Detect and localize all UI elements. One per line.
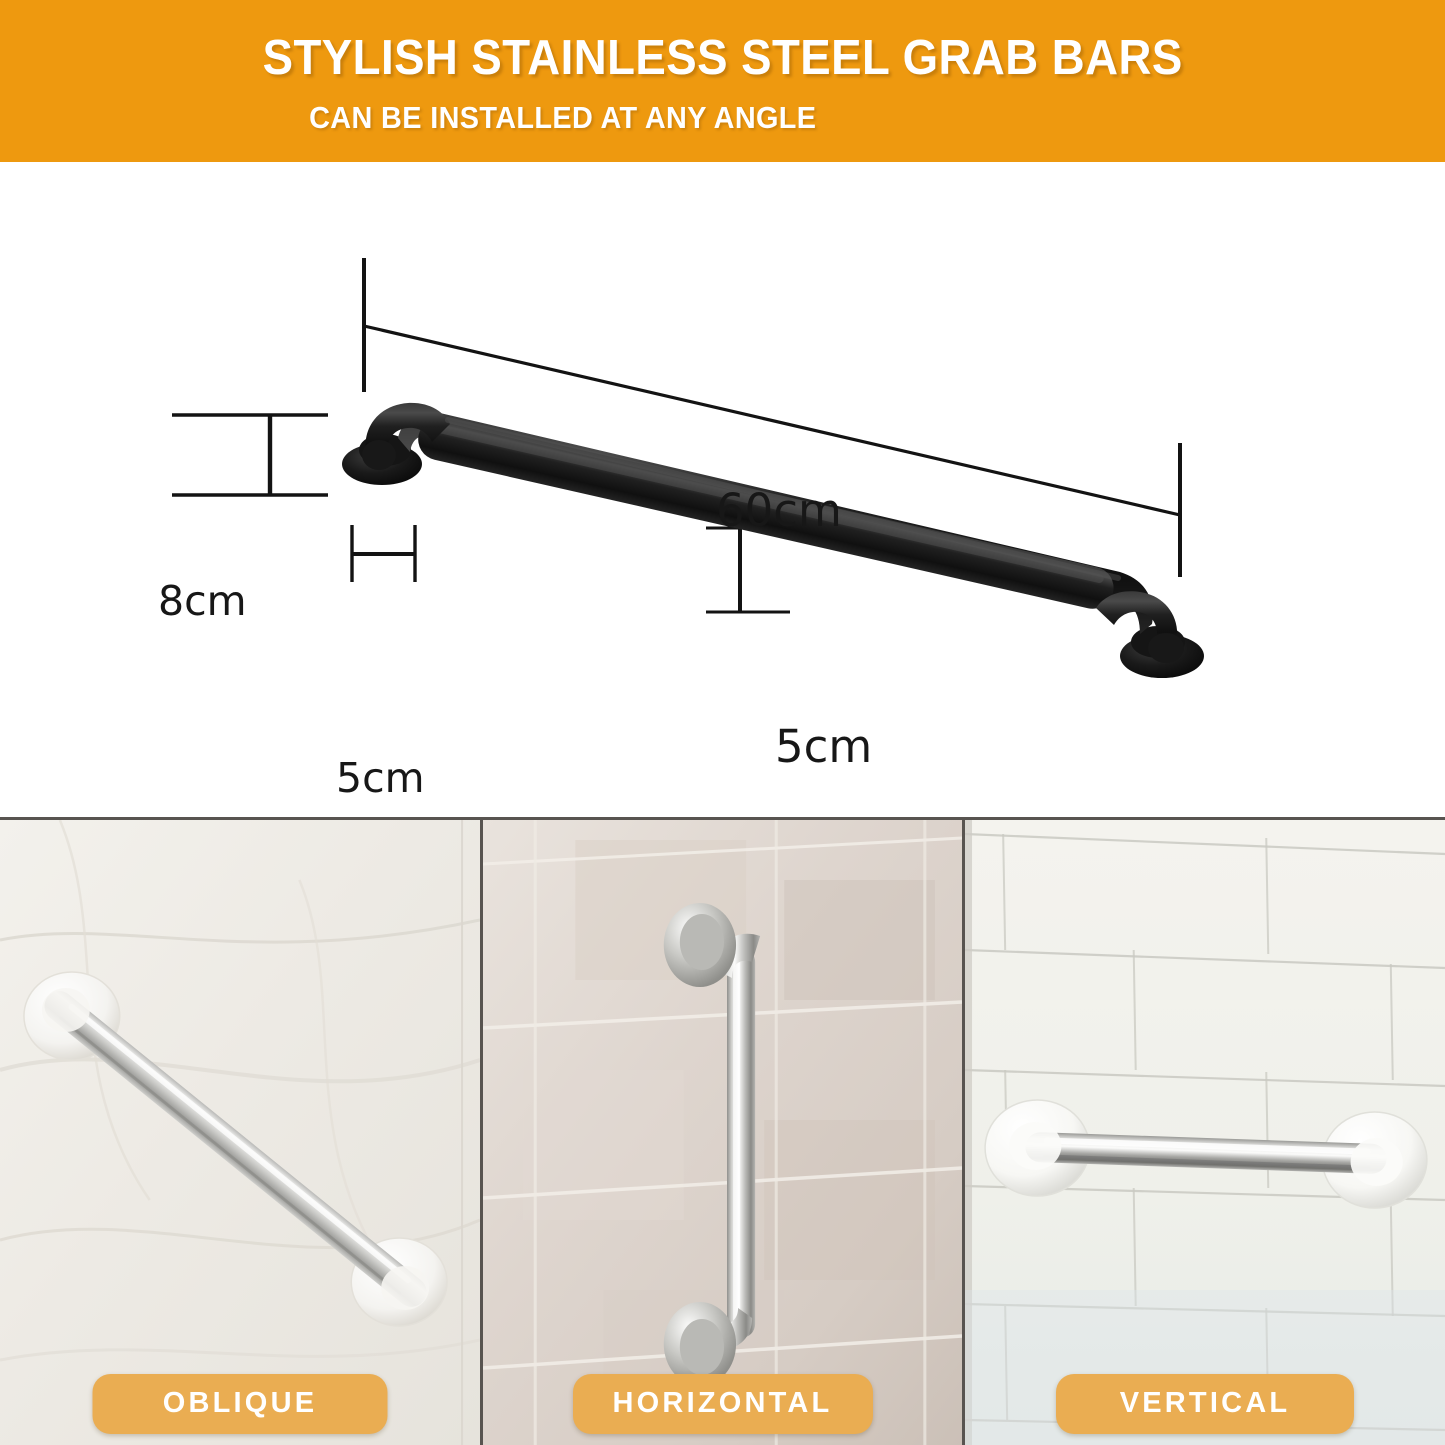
dimension-diagram: 60cm 8cm 5cm 5cm [0, 162, 1445, 817]
horizontal-photo [483, 820, 962, 1445]
oblique-photo [0, 820, 480, 1445]
vertical-photo [965, 820, 1445, 1445]
dimension-label-length: 60cm [716, 484, 842, 537]
page-subtitle: CAN BE INSTALLED AT ANY ANGLE [309, 102, 816, 133]
panel-vertical: VERTICAL [962, 817, 1445, 1445]
panel-label-oblique: OBLIQUE [93, 1374, 388, 1434]
product-infographic: STYLISH STAINLESS STEEL GRAB BARS CAN BE… [0, 0, 1445, 1445]
dimension-label-height: 8cm [158, 577, 247, 625]
installation-panels: OBLIQUE [0, 817, 1445, 1445]
dimension-label-flange: 5cm [336, 754, 425, 802]
header-banner: STYLISH STAINLESS STEEL GRAB BARS CAN BE… [0, 0, 1445, 162]
dimension-label-diameter: 5cm [775, 720, 872, 773]
panel-horizontal: HORIZONTAL [480, 817, 962, 1445]
page-title: STYLISH STAINLESS STEEL GRAB BARS [262, 34, 1182, 83]
panel-label-horizontal: HORIZONTAL [573, 1374, 873, 1434]
panel-oblique: OBLIQUE [0, 817, 480, 1445]
grab-bar-illustration [342, 403, 1204, 678]
panel-label-vertical: VERTICAL [1056, 1374, 1354, 1434]
